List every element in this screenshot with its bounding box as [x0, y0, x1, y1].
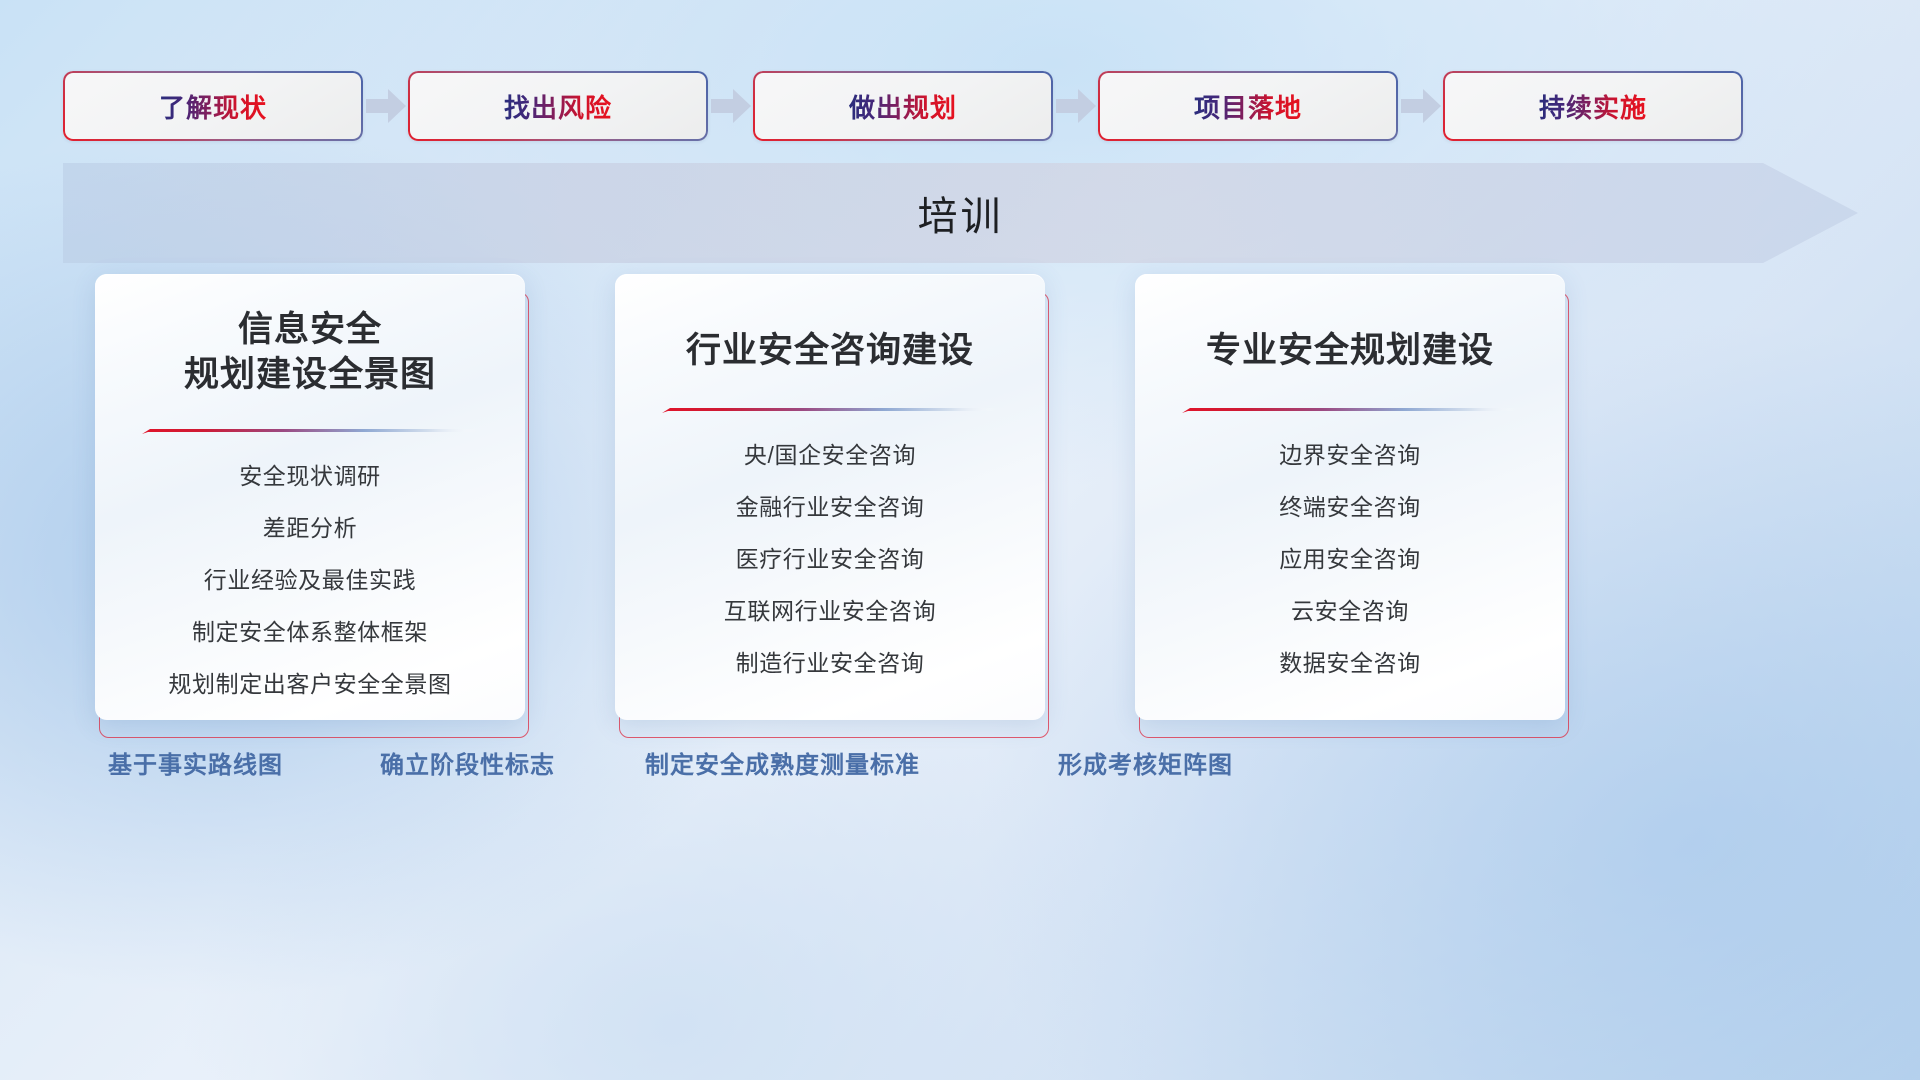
pipeline-step-2[interactable]: 找出风险 — [408, 71, 708, 141]
card-list-item: 央/国企安全咨询 — [744, 436, 916, 470]
card-panorama[interactable]: 信息安全 规划建设全景图 — [95, 274, 525, 720]
right-arrow-icon — [708, 71, 753, 141]
card-list-item: 应用安全咨询 — [1279, 540, 1421, 574]
caption-item: 确立阶段性标志 — [380, 745, 555, 780]
pipeline-steps: 了解现状 找出风险 做出规划 项目落地 — [63, 71, 1858, 141]
pipeline-step-5[interactable]: 持续实施 — [1443, 71, 1743, 141]
card-divider — [662, 401, 998, 410]
caption-item: 制定安全成熟度测量标准 — [645, 745, 920, 780]
card-title: 专业安全规划建设 — [1206, 329, 1494, 374]
card-list-item: 数据安全咨询 — [1279, 644, 1421, 678]
card-list-item: 云安全咨询 — [1291, 592, 1409, 626]
pipeline-step-label: 持续实施 — [1539, 88, 1647, 125]
card-title: 信息安全 规划建设全景图 — [184, 308, 436, 398]
caption-row: 基于事实路线图 确立阶段性标志 制定安全成熟度测量标准 形成考核矩阵图 — [0, 745, 1920, 790]
card-title-line: 规划建设全景图 — [184, 353, 436, 398]
card-list-item: 金融行业安全咨询 — [736, 488, 925, 522]
card-industry-consulting[interactable]: 行业安全咨询建设 — [615, 274, 1045, 720]
right-arrow-icon — [1398, 71, 1443, 141]
card-list-item: 边界安全咨询 — [1279, 436, 1421, 470]
card-list-item: 医疗行业安全咨询 — [736, 540, 925, 574]
pipeline-step-3[interactable]: 做出规划 — [753, 71, 1053, 141]
card-list-item: 行业经验及最佳实践 — [204, 561, 416, 595]
card-item-list: 央/国企安全咨询 金融行业安全咨询 医疗行业安全咨询 互联网行业安全咨询 制造行… — [724, 436, 936, 678]
card-list-item: 规划制定出客户安全全景图 — [168, 665, 451, 699]
card-item-list: 边界安全咨询 终端安全咨询 应用安全咨询 云安全咨询 数据安全咨询 — [1279, 436, 1421, 678]
card-wrapper-1: 信息安全 规划建设全景图 — [95, 274, 525, 720]
slide-canvas: 了解现状 找出风险 做出规划 项目落地 — [0, 0, 1920, 1080]
pipeline-step-label: 了解现状 — [159, 88, 267, 125]
card-list-item: 安全现状调研 — [239, 457, 381, 491]
card-list-item: 互联网行业安全咨询 — [724, 592, 936, 626]
band-title: 培训 — [63, 163, 1858, 263]
caption-item: 基于事实路线图 — [108, 745, 283, 780]
card-wrapper-3: 专业安全规划建设 — [1135, 274, 1565, 720]
card-title-line: 信息安全 — [184, 308, 436, 353]
card-list-item: 差距分析 — [263, 509, 357, 543]
training-band: 培训 — [63, 163, 1858, 263]
caption-item: 形成考核矩阵图 — [1058, 745, 1233, 780]
card-wrapper-2: 行业安全咨询建设 — [615, 274, 1045, 720]
pipeline-step-4[interactable]: 项目落地 — [1098, 71, 1398, 141]
right-arrow-icon — [1053, 71, 1098, 141]
card-title: 行业安全咨询建设 — [686, 329, 974, 374]
card-list-item: 制造行业安全咨询 — [736, 644, 925, 678]
card-professional-planning[interactable]: 专业安全规划建设 — [1135, 274, 1565, 720]
card-title-line: 专业安全规划建设 — [1206, 329, 1494, 374]
pipeline-step-1[interactable]: 了解现状 — [63, 71, 363, 141]
card-list-item: 终端安全咨询 — [1279, 488, 1421, 522]
pipeline-step-label: 做出规划 — [849, 88, 957, 125]
right-arrow-icon — [363, 71, 408, 141]
card-list-item: 制定安全体系整体框架 — [192, 613, 428, 647]
pipeline-step-label: 找出风险 — [504, 88, 612, 125]
card-title-line: 行业安全咨询建设 — [686, 329, 974, 374]
pipeline-step-label: 项目落地 — [1194, 88, 1302, 125]
card-divider — [1182, 401, 1518, 410]
card-item-list: 安全现状调研 差距分析 行业经验及最佳实践 制定安全体系整体框架 规划制定出客户… — [168, 457, 451, 699]
card-row: 信息安全 规划建设全景图 — [95, 274, 1840, 720]
card-divider — [142, 422, 478, 431]
